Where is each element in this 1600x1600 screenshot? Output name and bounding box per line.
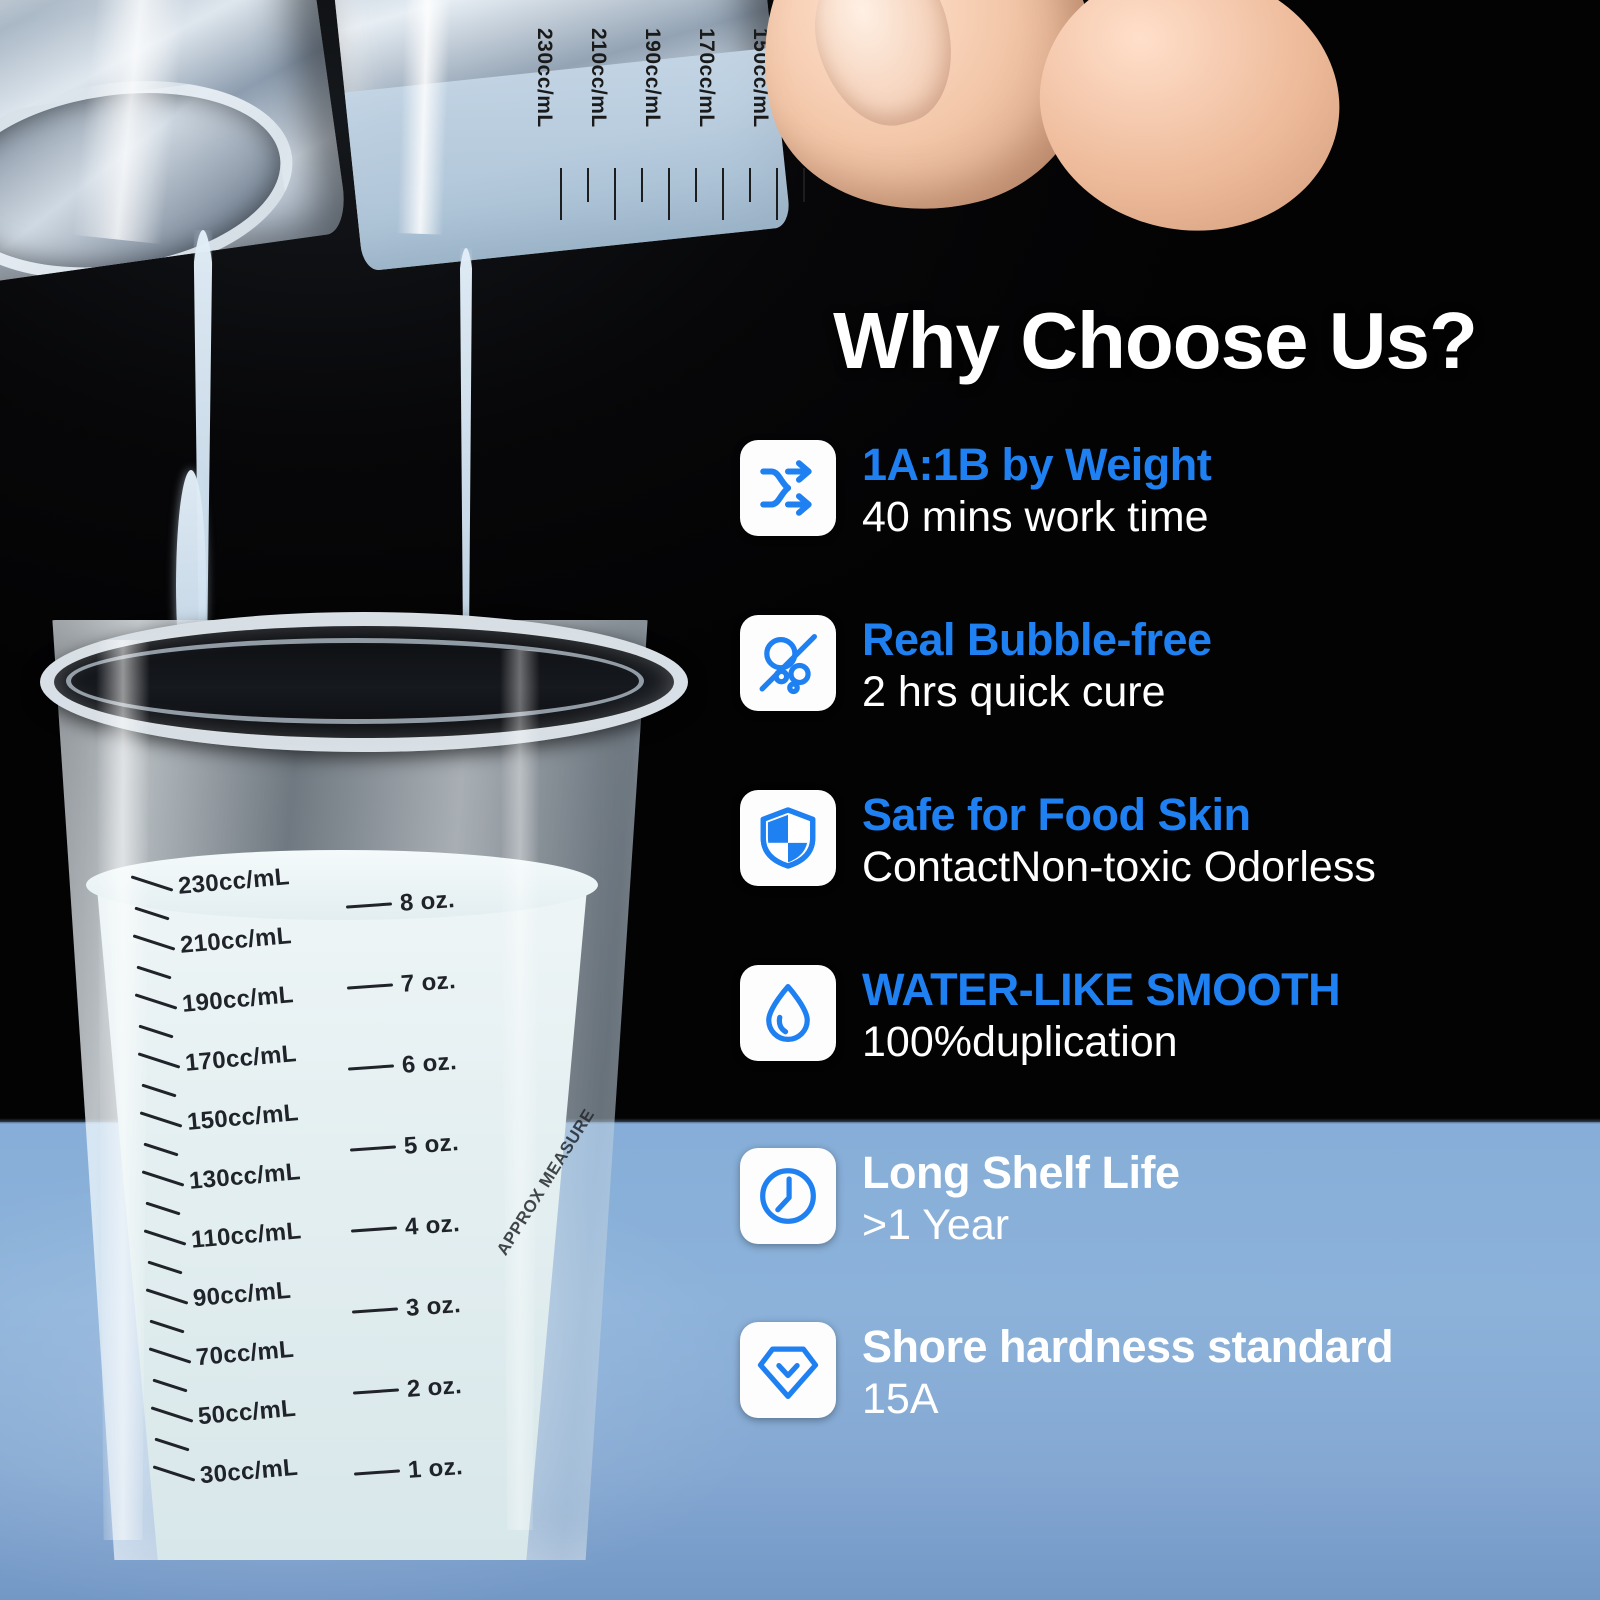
shield-icon (755, 805, 821, 871)
feature-heading: WATER-LIKE SMOOTH (862, 967, 1340, 1014)
oz-label: 3 oz. (405, 1291, 462, 1323)
feature-heading: Safe for Food Skin (862, 792, 1376, 839)
diamond-icon (755, 1337, 821, 1403)
feature-heading: Long Shelf Life (862, 1150, 1179, 1197)
shuffle-icon-tile (740, 440, 836, 536)
page-title: Why Choose Us? (735, 295, 1575, 387)
feature-text: Safe for Food SkinContactNon-toxic Odorl… (862, 790, 1376, 891)
pouring-cup-tick (695, 168, 697, 202)
pouring-cup-ml-label: 190cc/mL (640, 28, 664, 128)
feature-subtext: 15A (862, 1375, 1393, 1423)
pouring-cup-tick (560, 168, 562, 220)
feature-row-6: Shore hardness standard15A (740, 1322, 1393, 1423)
feature-row-1: 1A:1B by Weight40 mins work time (740, 440, 1211, 541)
pouring-measuring-cup (329, 0, 791, 272)
water-drop-icon (755, 980, 821, 1046)
pour-stream-right (452, 248, 480, 668)
oz-label: 8 oz. (399, 886, 456, 918)
oz-label: 4 oz. (404, 1210, 461, 1242)
no-bubbles-icon (755, 630, 821, 696)
oz-label: 2 oz. (406, 1372, 463, 1404)
oz-label: 5 oz. (403, 1129, 460, 1161)
feature-subtext: 2 hrs quick cure (862, 668, 1212, 716)
pouring-cup-tick (641, 168, 643, 202)
pouring-cup-tick (749, 168, 751, 202)
diamond-icon-tile (740, 1322, 836, 1418)
pouring-cup-ml-label: 170cc/mL (694, 28, 718, 128)
pouring-cup-ml-label: 210cc/mL (586, 28, 610, 128)
feature-text: Real Bubble-free2 hrs quick cure (862, 615, 1212, 716)
clock-icon (755, 1163, 821, 1229)
oz-label: 6 oz. (401, 1048, 458, 1080)
shield-icon-tile (740, 790, 836, 886)
feature-row-4: WATER-LIKE SMOOTH100%duplication (740, 965, 1340, 1066)
feature-subtext: 100%duplication (862, 1018, 1340, 1066)
pouring-cup-tick (587, 168, 589, 202)
pouring-cup-tick (722, 168, 724, 220)
pouring-cup-tick (803, 168, 805, 202)
pouring-cup-tick (614, 168, 616, 220)
product-photo: 230cc/mL210cc/mL190cc/mL170cc/mL150cc/mL… (0, 0, 720, 1600)
feature-row-5: Long Shelf Life>1 Year (740, 1148, 1179, 1249)
feature-subtext: 40 mins work time (862, 493, 1211, 541)
feature-heading: 1A:1B by Weight (862, 442, 1211, 489)
feature-subtext: >1 Year (862, 1201, 1179, 1249)
feature-text: Shore hardness standard15A (862, 1322, 1393, 1423)
main-cup-highlight-left (96, 640, 150, 1540)
pouring-cup-ml-label: 230cc/mL (532, 28, 556, 128)
oz-label: 1 oz. (407, 1453, 464, 1485)
feature-row-2: Real Bubble-free2 hrs quick cure (740, 615, 1212, 716)
no-bubbles-icon-tile (740, 615, 836, 711)
tipped-measuring-cup (0, 0, 349, 286)
main-cup-inner-rim (66, 638, 644, 724)
feature-text: WATER-LIKE SMOOTH100%duplication (862, 965, 1340, 1066)
pouring-cup-tick (776, 168, 778, 220)
feature-text: 1A:1B by Weight40 mins work time (862, 440, 1211, 541)
feature-row-3: Safe for Food SkinContactNon-toxic Odorl… (740, 790, 1376, 891)
feature-subtext: ContactNon-toxic Odorless (862, 843, 1376, 891)
feature-text: Long Shelf Life>1 Year (862, 1148, 1179, 1249)
product-feature-image: 230cc/mL210cc/mL190cc/mL170cc/mL150cc/mL… (0, 0, 1600, 1600)
water-drop-icon-tile (740, 965, 836, 1061)
feature-heading: Shore hardness standard (862, 1324, 1393, 1371)
shuffle-icon (755, 455, 821, 521)
oz-label: 7 oz. (400, 967, 457, 999)
feature-heading: Real Bubble-free (862, 617, 1212, 664)
clock-icon-tile (740, 1148, 836, 1244)
pouring-cup-tick (668, 168, 670, 220)
